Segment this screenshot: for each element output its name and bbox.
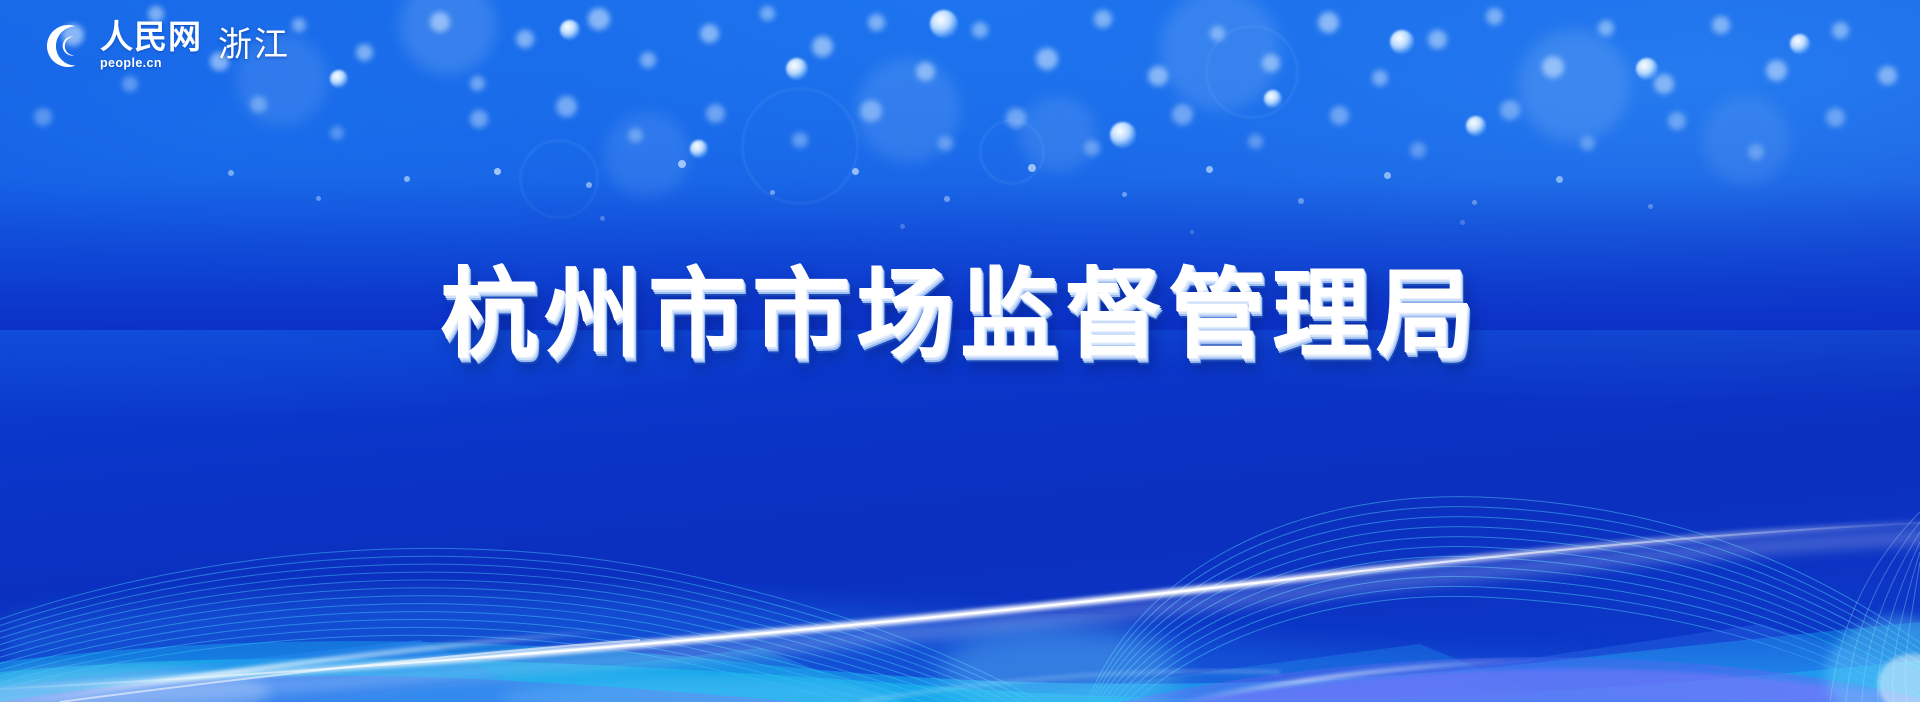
banner-header: 人民网 people.cn 浙江 杭州市市场监督管理局 bbox=[0, 0, 1920, 702]
logo-wordmark: 人民网 people.cn bbox=[100, 22, 202, 70]
wave-light-background bbox=[0, 372, 1920, 702]
site-logo[interactable]: 人民网 people.cn 浙江 bbox=[44, 18, 290, 74]
logo-chinese-name: 人民网 bbox=[100, 22, 202, 55]
logo-english-name: people.cn bbox=[100, 56, 202, 70]
logo-region-label: 浙江 bbox=[218, 29, 290, 63]
peoples-daily-crescent-logo-icon bbox=[44, 23, 90, 69]
